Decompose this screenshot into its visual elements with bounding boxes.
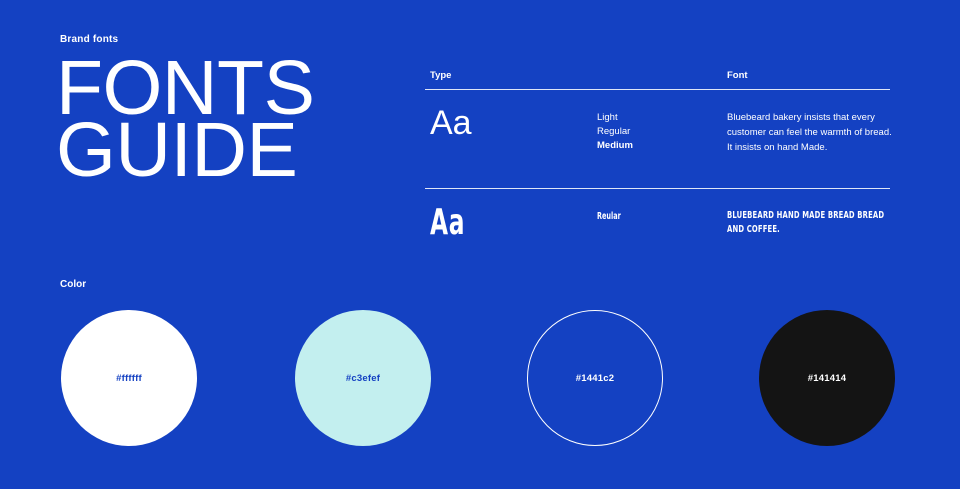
weight-item: Light: [597, 111, 633, 125]
color-swatch-hex: #1441c2: [576, 373, 614, 384]
column-header-font: Font: [727, 70, 748, 81]
color-swatch: #141414: [759, 310, 895, 446]
weight-item: Medium: [597, 139, 633, 153]
color-swatch: #ffffff: [61, 310, 197, 446]
color-swatch-hex: #141414: [808, 373, 846, 384]
color-swatch-hex: #ffffff: [116, 373, 142, 384]
color-swatch-hex: #c3efef: [346, 373, 380, 384]
weight-item: Regular: [597, 125, 633, 139]
brand-guide-slide: Brand fonts FONTS GUIDE Type Font Aa Lig…: [0, 0, 960, 489]
table-row: Aa Light Regular Medium Bluebeard bakery…: [425, 90, 890, 188]
type-specimen-table: Type Font Aa Light Regular Medium Bluebe…: [425, 70, 890, 287]
weight-list: Reular: [597, 210, 628, 224]
section-label-brand-fonts: Brand fonts: [60, 34, 118, 45]
font-sample-text: Bluebeard hand made bread bread and coff…: [727, 209, 899, 237]
type-sample-glyph: Aa: [430, 106, 472, 140]
weight-item: Reular: [597, 210, 621, 224]
color-swatch: #c3efef: [295, 310, 431, 446]
weight-list: Light Regular Medium: [597, 111, 633, 153]
type-sample-glyph: Aa: [430, 205, 465, 241]
section-label-color: Color: [60, 279, 86, 290]
table-header-row: Type Font: [425, 70, 890, 89]
font-sample-text: Bluebeard bakery insists that every cust…: [727, 110, 897, 155]
column-header-type: Type: [430, 70, 451, 81]
table-row: Aa Reular Bluebeard hand made bread brea…: [425, 189, 890, 287]
page-title: FONTS GUIDE: [56, 58, 416, 181]
color-swatch: #1441c2: [527, 310, 663, 446]
